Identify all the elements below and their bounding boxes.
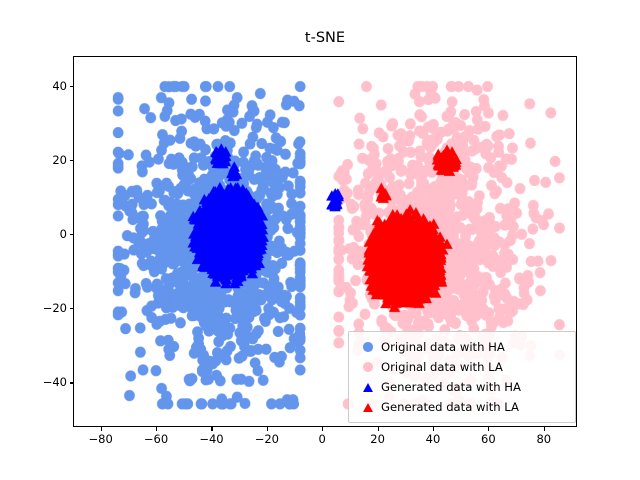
- marker-glyph: [363, 383, 373, 392]
- y-tick-mark: [70, 160, 74, 161]
- legend-circle-marker-icon: [355, 342, 381, 352]
- y-tick-mark: [70, 382, 74, 383]
- y-tick-mark: [70, 86, 74, 87]
- legend-item[interactable]: Generated data with HA: [355, 377, 569, 397]
- y-tick-mark: [70, 234, 74, 235]
- legend-item-label: Original data with LA: [381, 360, 503, 374]
- x-tick-mark: [488, 427, 489, 431]
- x-tick-label: 20: [370, 432, 385, 446]
- marker-glyph: [363, 342, 373, 352]
- legend-item[interactable]: Generated data with LA: [355, 397, 569, 417]
- legend-item-label: Original data with HA: [381, 340, 505, 354]
- x-tick-label: 80: [536, 432, 551, 446]
- matplotlib-figure: t-SNE −80−60−40−20020406080 40200−20−40 …: [0, 0, 640, 480]
- x-tick-mark: [433, 427, 434, 431]
- legend[interactable]: Original data with HAOriginal data with …: [348, 331, 576, 423]
- legend-triangle-marker-icon: [355, 383, 381, 392]
- y-tick-label: 0: [60, 227, 67, 241]
- y-tick-label: −40: [43, 375, 67, 389]
- x-tick-label: −20: [255, 432, 279, 446]
- legend-item[interactable]: Original data with HA: [355, 337, 569, 357]
- x-tick-mark: [156, 427, 157, 431]
- x-tick-label: −60: [144, 432, 168, 446]
- x-tick-mark: [101, 427, 102, 431]
- y-tick-label: 40: [52, 79, 67, 93]
- marker-glyph: [363, 403, 373, 412]
- page-title: t-SNE: [73, 29, 577, 47]
- marker-glyph: [363, 362, 373, 372]
- x-tick-label: 0: [319, 432, 326, 446]
- x-tick-mark: [378, 427, 379, 431]
- y-tick-label: 20: [52, 153, 67, 167]
- x-tick-mark: [211, 427, 212, 431]
- x-tick-label: 40: [426, 432, 441, 446]
- legend-item[interactable]: Original data with LA: [355, 357, 569, 377]
- legend-triangle-marker-icon: [355, 403, 381, 412]
- x-tick-mark: [544, 427, 545, 431]
- legend-item-label: Generated data with LA: [381, 400, 519, 414]
- x-tick-label: −40: [199, 432, 223, 446]
- y-tick-mark: [70, 308, 74, 309]
- x-tick-label: 60: [481, 432, 496, 446]
- x-tick-label: −80: [89, 432, 113, 446]
- legend-item-label: Generated data with HA: [381, 380, 521, 394]
- y-tick-label: −20: [43, 301, 67, 315]
- x-tick-mark: [322, 427, 323, 431]
- x-tick-mark: [267, 427, 268, 431]
- legend-circle-marker-icon: [355, 362, 381, 372]
